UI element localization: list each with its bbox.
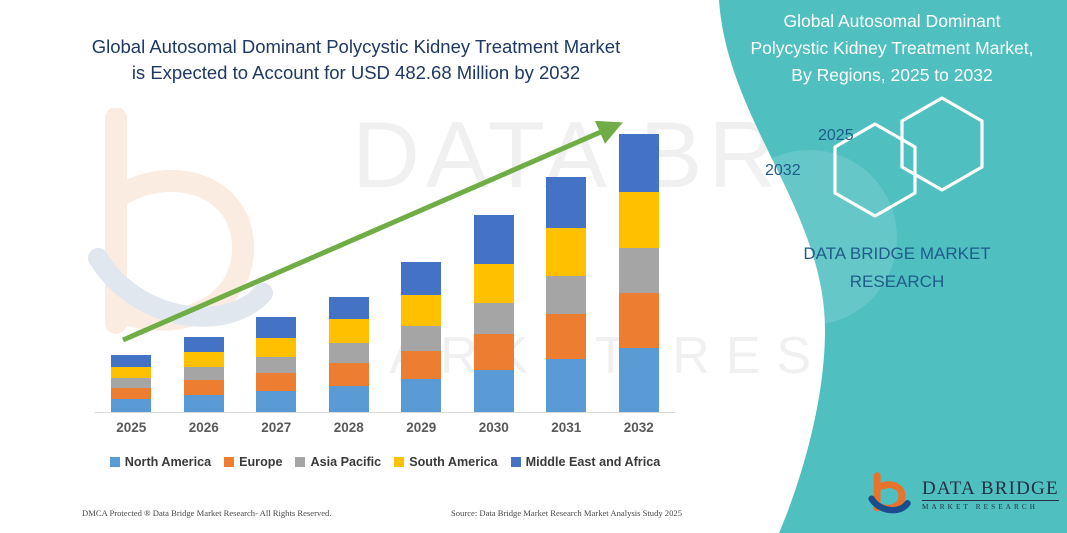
legend-label: Asia Pacific [310,455,381,469]
brand-name-line-1: DATA BRIDGE MARKET [737,240,1057,268]
x-axis-tick-label: 2027 [240,420,312,435]
hexagon-label-end-year: 2032 [765,162,801,180]
bar-segment [111,367,151,378]
hexagon-label-start-year: 2025 [818,127,854,145]
year-hexagons [797,92,1027,222]
stacked-bar-group [95,120,675,412]
bar-segment [619,134,659,192]
legend-label: Middle East and Africa [526,455,661,469]
x-axis-labels: 20252026202720282029203020312032 [95,420,675,435]
legend-item[interactable]: South America [394,455,497,469]
bar-segment [474,215,514,264]
bar-segment [256,317,296,338]
legend-label: Europe [239,455,282,469]
bar-segment [474,303,514,334]
bar-segment [619,248,659,293]
chart-subject-title-line-1: Global Autosomal Dominant [727,8,1057,35]
stacked-bar [546,177,586,412]
stacked-bar [256,317,296,412]
brand-name: DATA BRIDGE MARKET RESEARCH [737,240,1057,296]
bar-segment [546,228,586,276]
x-axis-tick-label: 2025 [95,420,167,435]
brand-panel-content: Global Autosomal Dominant Polycystic Kid… [667,0,1067,533]
bar-column [530,177,602,412]
bar-segment [546,359,586,412]
footer-copyright: DMCA Protected ® Data Bridge Market Rese… [82,508,332,518]
company-logo: DATA BRIDGE MARKET RESEARCH [867,472,1059,518]
stacked-bar [111,355,151,412]
bar-segment [329,319,369,343]
bar-segment [184,395,224,412]
x-axis-tick-label: 2031 [530,420,602,435]
chart-subject-title-line-3: By Regions, 2025 to 2032 [727,62,1057,89]
logo-main-text: DATA BRIDGE [922,479,1059,501]
legend-swatch-icon [394,457,404,467]
brand-name-line-2: RESEARCH [737,268,1057,296]
stacked-bar [184,337,224,412]
bar-segment [329,363,369,386]
bar-column [240,317,312,412]
stacked-bar [329,297,369,412]
legend-item[interactable]: Asia Pacific [295,455,381,469]
x-axis-tick-label: 2028 [313,420,385,435]
legend-label: South America [409,455,497,469]
bar-segment [329,386,369,412]
page-title-line-1: Global Autosomal Dominant Polycystic Kid… [40,34,672,60]
page-title: Global Autosomal Dominant Polycystic Kid… [40,34,672,86]
legend-item[interactable]: Middle East and Africa [511,455,661,469]
x-axis-tick-label: 2026 [168,420,240,435]
legend-item[interactable]: North America [110,455,211,469]
bar-segment [329,297,369,319]
hexagon-outlines-icon [797,92,1027,222]
bar-segment [256,373,296,391]
bar-segment [184,380,224,395]
bar-segment [256,357,296,373]
legend-swatch-icon [511,457,521,467]
bar-segment [401,262,441,295]
bar-segment [619,293,659,348]
bar-segment [111,388,151,399]
bar-segment [401,295,441,326]
stacked-bar [619,134,659,412]
bar-column [385,262,457,412]
bar-segment [546,314,586,359]
bar-segment [474,370,514,412]
bar-segment [184,352,224,367]
infographic-root: DATA BRIDGE MARKET RESEARCH Global Autos… [0,0,1067,533]
brand-panel: Global Autosomal Dominant Polycystic Kid… [667,0,1067,533]
chart-subject-title: Global Autosomal Dominant Polycystic Kid… [727,8,1057,89]
bar-segment [111,378,151,388]
chart-legend: North AmericaEuropeAsia PacificSouth Ame… [95,455,675,469]
bar-segment [619,348,659,412]
legend-swatch-icon [224,457,234,467]
legend-swatch-icon [295,457,305,467]
bar-segment [184,337,224,352]
bar-column [168,337,240,412]
x-axis-line [95,412,675,413]
bar-segment [401,326,441,351]
bar-column [95,355,167,412]
x-axis-tick-label: 2032 [603,420,675,435]
chart-subject-title-line-2: Polycystic Kidney Treatment Market, [727,35,1057,62]
logo-wordmark: DATA BRIDGE MARKET RESEARCH [922,479,1059,511]
bar-segment [546,177,586,228]
bar-column [458,215,530,412]
x-axis-tick-label: 2030 [458,420,530,435]
bar-segment [111,399,151,412]
stacked-bar [401,262,441,412]
legend-label: North America [125,455,211,469]
bar-segment [256,391,296,412]
bar-segment [329,343,369,363]
bar-segment [401,379,441,412]
logo-sub-text: MARKET RESEARCH [922,504,1059,511]
bar-segment [111,355,151,367]
legend-swatch-icon [110,457,120,467]
bar-segment [474,264,514,303]
footer-source: Source: Data Bridge Market Research Mark… [451,508,682,518]
bar-column [313,297,385,412]
bar-segment [619,192,659,248]
bar-segment [546,276,586,314]
footer: DMCA Protected ® Data Bridge Market Rese… [82,508,682,518]
stacked-bar [474,215,514,412]
bar-segment [184,367,224,380]
bar-column [603,134,675,412]
logo-mark-icon [867,472,913,518]
x-axis-tick-label: 2029 [385,420,457,435]
legend-item[interactable]: Europe [224,455,282,469]
bar-segment [401,351,441,379]
chart-panel: Global Autosomal Dominant Polycystic Kid… [0,0,712,533]
bar-segment [256,338,296,357]
bar-segment [474,334,514,370]
page-title-line-2: is Expected to Account for USD 482.68 Mi… [40,60,672,86]
